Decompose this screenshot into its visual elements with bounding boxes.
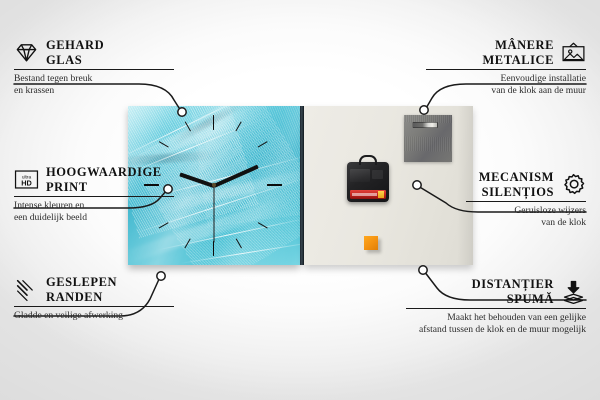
- beveled-edges-icon: [14, 277, 39, 302]
- callout-rule: [14, 69, 174, 70]
- ultra-hd-icon: ultra HD: [14, 167, 39, 192]
- callout-title: GESLEPEN RANDEN: [46, 275, 117, 304]
- callout-subtitle: Gladde en veilige afwerking: [14, 310, 174, 322]
- callout-title: DISTANȚIER SPUMĂ: [406, 277, 554, 306]
- callout-subtitle: Geruisloze wijzers van de klok: [466, 205, 586, 229]
- diamond-icon: [14, 40, 39, 65]
- svg-text:HD: HD: [21, 178, 32, 187]
- callout-title: GEHARD GLAS: [46, 38, 104, 67]
- callout-manere-metalice: MÂNERE METALICE Eenvoudige installatie v…: [426, 38, 586, 97]
- callout-gehard-glas: GEHARD GLAS Bestand tegen breuk en krass…: [14, 38, 174, 97]
- callout-rule: [466, 201, 586, 202]
- picture-frame-icon: [561, 40, 586, 65]
- callout-rule: [406, 308, 586, 309]
- spacer-layers-icon: [561, 279, 586, 304]
- callout-hoogwaardige-print: ultra HD HOOGWAARDIGE PRINT Intense kleu…: [14, 165, 174, 224]
- callout-title: HOOGWAARDIGE PRINT: [46, 165, 162, 194]
- infographic-canvas: GEHARD GLAS Bestand tegen breuk en krass…: [0, 0, 600, 400]
- callout-subtitle: Maakt het behouden van een gelijke afsta…: [406, 312, 586, 336]
- callout-rule: [426, 69, 586, 70]
- callout-title: MÂNERE METALICE: [426, 38, 554, 67]
- callout-distantier-spuma: DISTANȚIER SPUMĂ Maakt het behouden van …: [406, 277, 586, 336]
- callout-geslepen-randen: GESLEPEN RANDEN Gladde en veilige afwerk…: [14, 275, 174, 322]
- callout-mecanism-silentios: MECANISM SILENȚIOS Geruisloze wijzers va…: [466, 170, 586, 229]
- callout-rule: [14, 196, 174, 197]
- gear-icon: [561, 172, 586, 197]
- callout-subtitle: Bestand tegen breuk en krassen: [14, 73, 174, 97]
- callout-title: MECANISM SILENȚIOS: [466, 170, 554, 199]
- callout-rule: [14, 306, 174, 307]
- callout-subtitle: Intense kleuren en een duidelijk beeld: [14, 200, 174, 224]
- callout-subtitle: Eenvoudige installatie van de klok aan d…: [426, 73, 586, 97]
